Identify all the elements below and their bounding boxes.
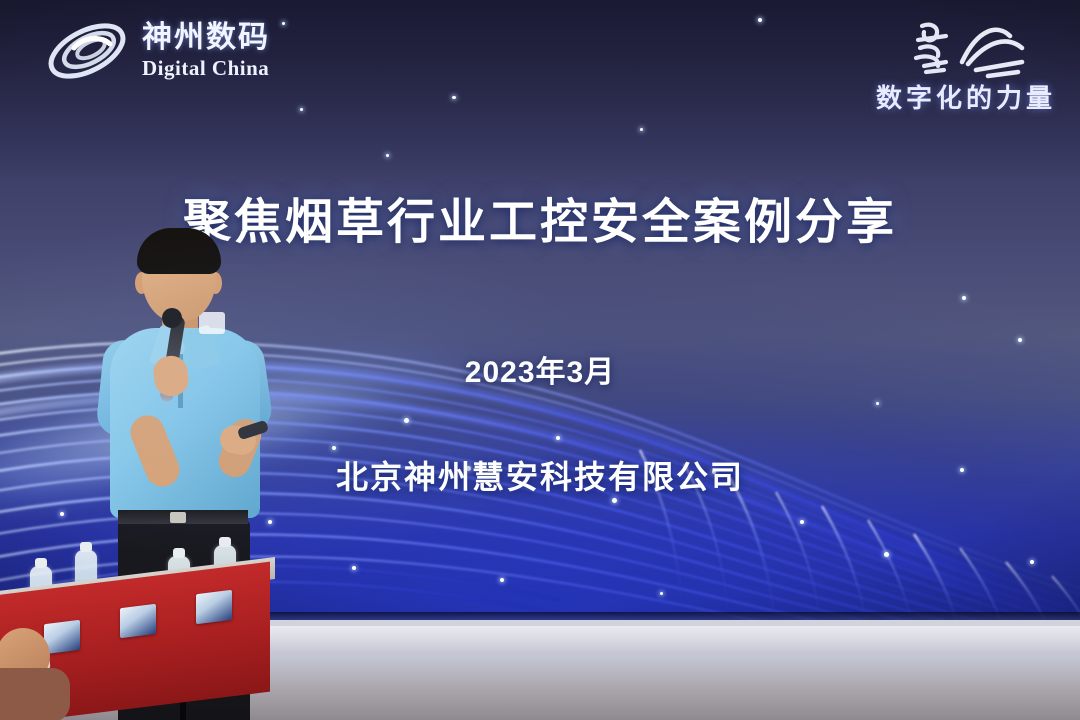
light-particle [1018, 338, 1022, 342]
light-particle [876, 402, 879, 405]
digital-china-swirl-icon [44, 18, 130, 84]
light-particle [404, 418, 409, 423]
seated-guest-body [0, 668, 70, 720]
screenshot-root: 神州数码 Digital China 数字化的力量 聚焦烟草行业工控安全案例 [0, 0, 1080, 720]
bottle-cap [219, 537, 231, 547]
light-particle [612, 498, 617, 503]
light-particle [1030, 560, 1034, 564]
light-particle [962, 296, 966, 300]
speaker-belt-buckle [170, 512, 186, 523]
light-particle [640, 128, 643, 131]
light-particle [556, 436, 560, 440]
speaker-hair [137, 228, 221, 274]
name-plate [120, 604, 156, 638]
light-particle [282, 22, 285, 25]
bottle-cap [80, 542, 92, 552]
juhe-logo: 数字化的力量 [876, 14, 1056, 115]
light-particle [758, 18, 762, 22]
speaker-shirt-logo-icon [199, 312, 225, 334]
light-particle [500, 578, 504, 582]
name-plate [196, 590, 232, 624]
digital-china-logo: 神州数码 Digital China [44, 18, 270, 84]
light-particle [352, 566, 356, 570]
light-particle [386, 154, 389, 157]
digital-china-name-en: Digital China [142, 58, 270, 79]
light-particle [884, 552, 889, 557]
name-plate [44, 620, 80, 654]
light-particle [300, 108, 303, 111]
light-particle [660, 592, 663, 595]
light-particle [60, 512, 64, 516]
juhe-calligraphy-icon [906, 14, 1056, 82]
light-particle [800, 520, 804, 524]
microphone-capsule [162, 308, 182, 328]
digital-china-name-cn: 神州数码 [142, 23, 270, 53]
bottle-cap [173, 548, 185, 558]
bottle-cap [35, 558, 47, 568]
juhe-tagline: 数字化的力量 [876, 78, 1056, 115]
light-particle [452, 96, 456, 99]
light-particle [332, 446, 336, 450]
